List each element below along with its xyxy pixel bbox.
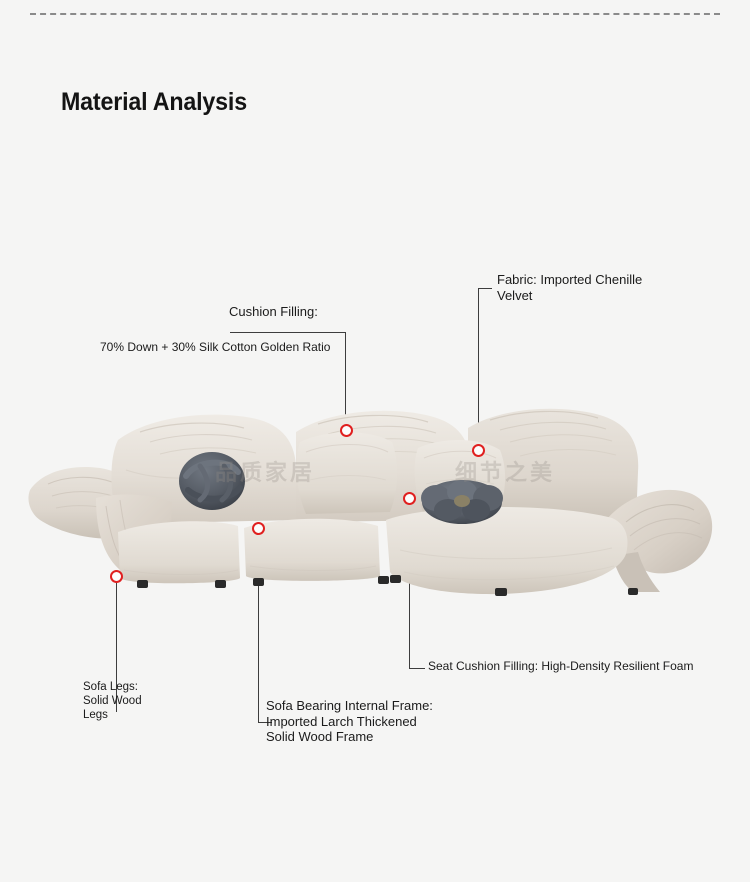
leader-seat-horizontal — [409, 668, 425, 669]
leader-fabric-horizontal — [478, 288, 492, 289]
material-analysis-page: Material Analysis — [0, 0, 750, 882]
marker-legs[interactable] — [110, 570, 123, 583]
annotation-cushion-title: Cushion Filling: — [229, 305, 349, 320]
marker-fabric[interactable] — [472, 444, 485, 457]
annotation-frame-label: Sofa Bearing Internal Frame: Imported La… — [266, 698, 486, 745]
top-dashed-divider — [30, 13, 720, 15]
leader-cushion-horizontal — [230, 332, 346, 333]
annotation-fabric-label: Fabric: Imported Chenille Velvet — [497, 272, 677, 304]
annotation-cushion-detail: 70% Down + 30% Silk Cotton Golden Ratio — [100, 340, 360, 354]
annotation-seat-cushion-label: Seat Cushion Filling: High-Density Resil… — [428, 659, 693, 673]
marker-frame[interactable] — [252, 522, 265, 535]
page-title: Material Analysis — [61, 88, 247, 117]
annotation-sofa-legs-label: Sofa Legs: Solid Wood Legs — [83, 681, 173, 722]
marker-cushion-filling[interactable] — [340, 424, 353, 437]
marker-seat-cushion[interactable] — [403, 492, 416, 505]
